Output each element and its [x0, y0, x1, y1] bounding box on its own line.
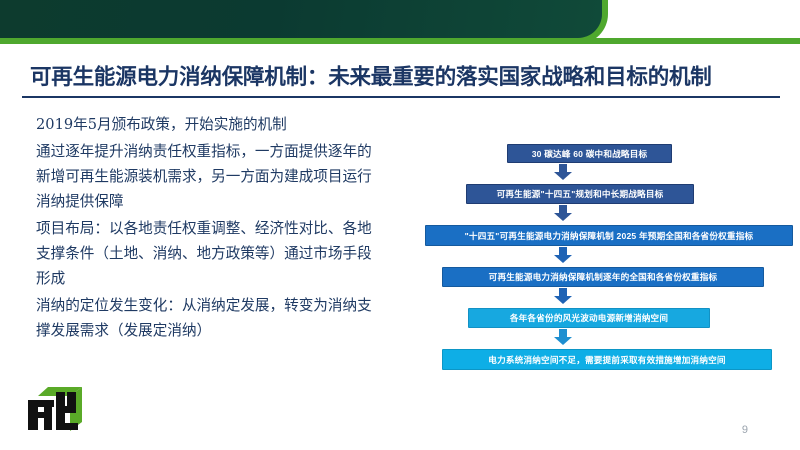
- body-paragraph-3-line-3: 形成: [36, 266, 414, 291]
- arrow-head: [554, 255, 572, 263]
- arrow-head: [554, 337, 572, 345]
- arrow-head: [554, 172, 572, 180]
- arrow-head: [554, 296, 572, 304]
- header-bar: [0, 0, 608, 44]
- flow-node-4[interactable]: 可再生能源电力消纳保障机制逐年的全国和各省份权重指标: [442, 267, 764, 287]
- flowchart: 30 碳达峰 60 碳中和战略目标 可再生能源"十四五"规划和中长期战略目标 "…: [420, 140, 800, 380]
- flow-node-6[interactable]: 电力系统消纳空间不足，需要提前采取有效措施增加消纳空间: [442, 349, 772, 370]
- page-title: 可再生能源电力消纳保障机制：未来最重要的落实国家战略和目标的机制: [30, 60, 790, 91]
- body-paragraph-3-line-1: 项目布局：以各地责任权重调整、经济性对比、各地: [36, 216, 414, 241]
- flow-node-3[interactable]: "十四五"可再生能源电力消纳保障机制 2025 年预期全国和各省份权重指标: [425, 225, 793, 246]
- body-paragraph-2-line-3: 消纳提供保障: [36, 189, 414, 214]
- flow-arrow-1: [554, 164, 572, 180]
- flow-node-1[interactable]: 30 碳达峰 60 碳中和战略目标: [507, 144, 672, 163]
- flow-node-5[interactable]: 各年各省份的风光波动电源新增消纳空间: [468, 308, 710, 328]
- flow-arrow-2: [554, 205, 572, 221]
- body-paragraph-1: 2019年5月颁布政策，开始实施的机制: [36, 112, 414, 137]
- body-paragraph-4-line-1: 消纳的定位发生变化：从消纳定发展，转变为消纳支: [36, 293, 414, 318]
- body-paragraph-2-line-1: 通过逐年提升消纳责任权重指标，一方面提供逐年的: [36, 139, 414, 164]
- arrow-head: [554, 213, 572, 221]
- title-underline-rule: [22, 96, 780, 98]
- body-paragraph-3-line-2: 支撑条件（土地、消纳、地方政策等）通过市场手段: [36, 241, 414, 266]
- page-number: 9: [742, 424, 748, 436]
- body-paragraph-2-line-2: 新增可再生能源装机需求，另一方面为建成项目运行: [36, 164, 414, 189]
- body-paragraph-4-line-2: 撑发展需求（发展定消纳）: [36, 318, 414, 343]
- eri-cube-logo: [18, 386, 94, 438]
- flow-arrow-5: [554, 329, 572, 345]
- flow-arrow-4: [554, 288, 572, 304]
- flow-arrow-3: [554, 247, 572, 263]
- flow-node-2[interactable]: 可再生能源"十四五"规划和中长期战略目标: [466, 184, 694, 204]
- body-text-column: 2019年5月颁布政策，开始实施的机制 通过逐年提升消纳责任权重指标，一方面提供…: [36, 112, 414, 345]
- slide-canvas: 国家发展和改革委员会能源研究所 Energy Research Institut…: [0, 0, 800, 450]
